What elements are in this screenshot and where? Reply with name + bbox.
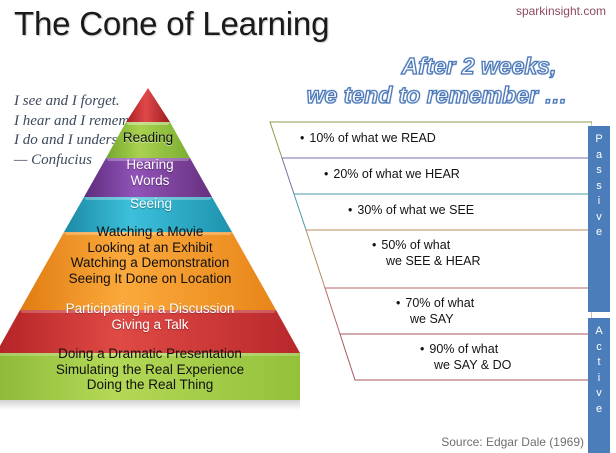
sidebar-passive: P a s s i v e [588,126,610,312]
sidebar-passive-letter-3: s [588,163,610,179]
sidebar-active-letter-2: c [588,340,610,356]
retention-funnel-shape [262,118,592,438]
page-title: The Cone of Learning [14,4,329,44]
learning-pyramid: Reading Hearing Words Seeing Watching a … [0,88,300,443]
sidebar-passive-letter-4: s [588,179,610,195]
sidebar-active-letter-3: t [588,355,610,371]
pyramid-shape [0,88,300,443]
sidebar-active-letter-5: v [588,386,610,402]
source-attribution: Source: Edgar Dale (1969) [441,435,584,449]
sidebar-passive-letter-1: P [588,132,610,148]
sidebar-active: A c t i v e [588,318,610,453]
sidebar-passive-letter-6: v [588,210,610,226]
retention-heading-line-1: After 2 weeks, [272,52,602,81]
sidebar-passive-letter-7: e [588,225,610,241]
retention-heading-line-2: we tend to remember … [272,81,602,110]
sidebar-active-letter-1: A [588,324,610,340]
site-watermark: sparkinsight.com [516,4,606,18]
retention-funnel: •10% of what we READ •20% of what we HEA… [262,118,592,438]
retention-heading: After 2 weeks, we tend to remember … [272,52,602,110]
sidebar-passive-letter-2: a [588,148,610,164]
sidebar-passive-letter-5: i [588,194,610,210]
infographic-canvas: The Cone of Learning sparkinsight.com I … [0,0,616,453]
sidebar-active-letter-4: i [588,371,610,387]
sidebar-active-letter-6: e [588,402,610,418]
